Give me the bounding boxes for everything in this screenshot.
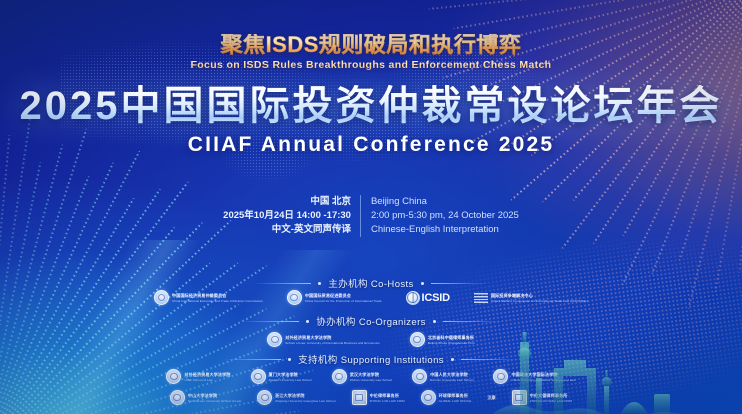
vignette-overlay xyxy=(0,0,742,414)
conference-poster: 聚焦ISDS规则破局和执行博弈 Focus on ISDS Rules Brea… xyxy=(0,0,742,414)
